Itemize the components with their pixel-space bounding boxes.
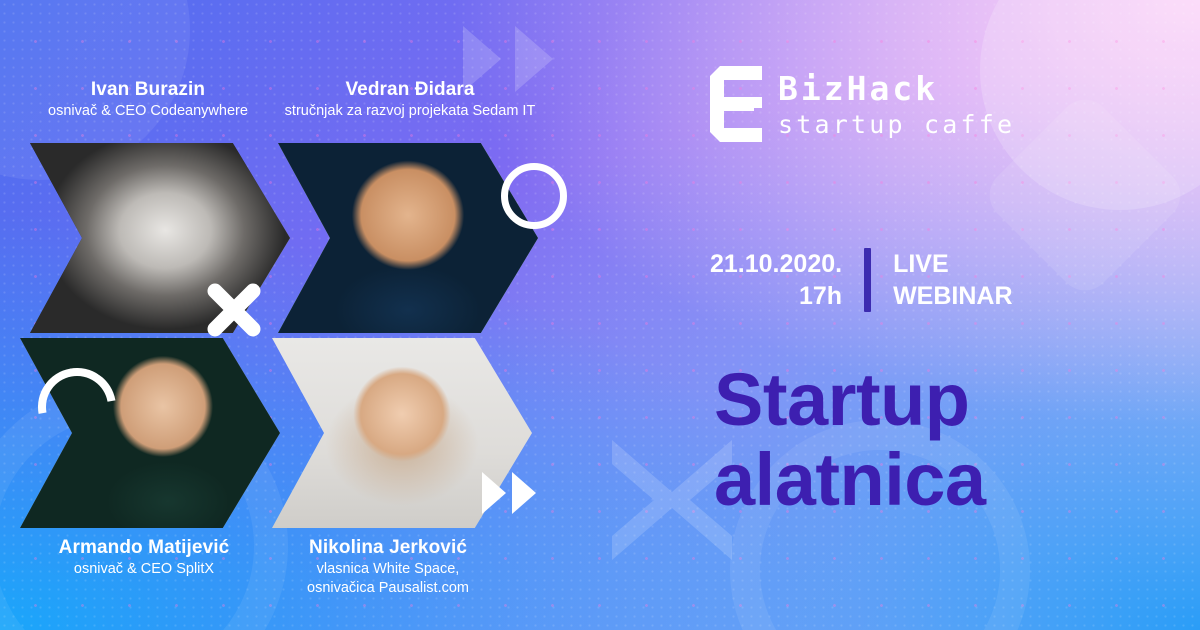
speaker-role: stručnjak za razvoj projekata Sedam IT bbox=[280, 102, 540, 121]
event-title-line2: alatnica bbox=[714, 440, 1184, 520]
brand-logo: BizHack startup caffe bbox=[710, 66, 1015, 142]
event-title: Startup alatnica bbox=[714, 360, 1184, 520]
speaker-name: Armando Matijević bbox=[14, 536, 274, 560]
speaker-label-3: Armando Matijević osnivač & CEO SplitX bbox=[14, 536, 274, 579]
event-format-line1: LIVE bbox=[893, 248, 1012, 280]
speaker-photo-ivan-burazin bbox=[30, 143, 290, 333]
speaker-role: osnivač & CEO SplitX bbox=[14, 560, 274, 579]
speaker-label-1: Ivan Burazin osnivač & CEO Codeanywhere bbox=[18, 78, 278, 121]
event-date: 21.10.2020. bbox=[710, 248, 842, 280]
speaker-photo-armando-matijevic bbox=[20, 338, 280, 528]
meta-divider bbox=[864, 248, 871, 312]
webinar-promo-banner: Ivan Burazin osnivač & CEO Codeanywhere … bbox=[0, 0, 1200, 630]
brand-tagline: startup caffe bbox=[778, 112, 1015, 137]
speaker-role: osnivač & CEO Codeanywhere bbox=[18, 102, 278, 121]
speaker-name: Vedran Đidara bbox=[280, 78, 540, 102]
event-info-column: BizHack startup caffe 21.10.2020. 17h LI… bbox=[700, 0, 1200, 630]
speaker-name: Nikolina Jerković bbox=[258, 536, 518, 560]
speaker-name: Ivan Burazin bbox=[18, 78, 278, 102]
event-format-line2: WEBINAR bbox=[893, 280, 1012, 312]
event-time: 17h bbox=[710, 280, 842, 312]
event-meta: 21.10.2020. 17h LIVE WEBINAR bbox=[710, 248, 1013, 312]
speaker-photo-vedran-didara bbox=[278, 143, 538, 333]
brand-logo-text: BizHack startup caffe bbox=[778, 72, 1015, 137]
event-format: LIVE WEBINAR bbox=[871, 248, 1012, 312]
event-date-time: 21.10.2020. 17h bbox=[710, 248, 864, 312]
speaker-label-4: Nikolina Jerković vlasnica White Space, … bbox=[258, 536, 518, 597]
event-title-line1: Startup bbox=[714, 360, 1184, 440]
brand-name: BizHack bbox=[778, 72, 1015, 105]
bizhack-b-mark-icon bbox=[710, 66, 762, 142]
speaker-role-line2: osnivačica Pausalist.com bbox=[258, 579, 518, 598]
speaker-label-2: Vedran Đidara stručnjak za razvoj projek… bbox=[280, 78, 540, 121]
speakers-grid: Ivan Burazin osnivač & CEO Codeanywhere … bbox=[0, 0, 600, 630]
speaker-photo-nikolina-jerkovic bbox=[272, 338, 532, 528]
speaker-role-line1: vlasnica White Space, bbox=[258, 560, 518, 579]
